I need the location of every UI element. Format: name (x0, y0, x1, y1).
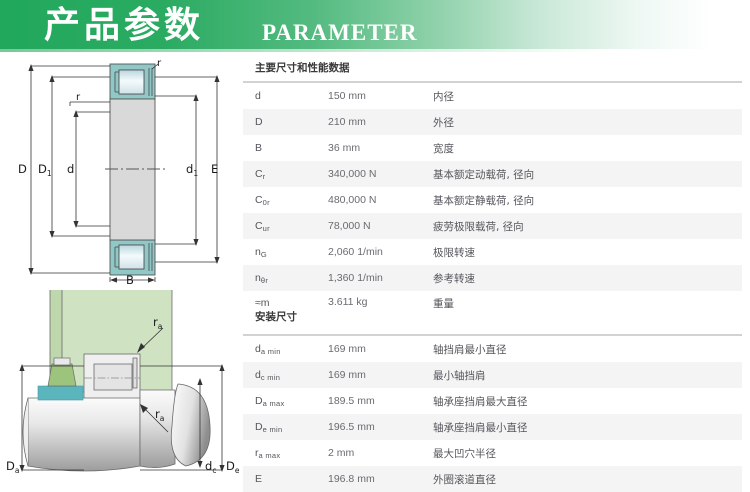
spec-symbol: nG (243, 246, 328, 258)
spec-value: 150 mm (328, 90, 433, 102)
spec-description: 极限转速 (433, 245, 742, 260)
spec-row: D210 mm外径 (243, 109, 742, 135)
spec-description: 外圈滚道直径 (433, 472, 742, 487)
bearing-mounting-drawing: Da dc De ra ra (0, 288, 243, 489)
page-title-cn: 产品参数 (44, 3, 204, 49)
spec-value: 36 mm (328, 142, 433, 154)
spec-symbol: D (243, 116, 328, 128)
spec-value: 340,000 N (328, 168, 433, 180)
dim-label-r-mid: r (76, 92, 81, 103)
dim-label-D1: D1 (38, 162, 52, 178)
spec-symbol: nθr (243, 272, 328, 284)
spec-row: C0r480,000 N基本额定静载荷, 径向 (243, 187, 742, 213)
spec-value: 189.5 mm (328, 395, 433, 407)
spec-description: 疲劳极限载荷, 径向 (433, 219, 742, 234)
dim-label-d1: d1 (186, 162, 198, 178)
spec-row: nG2,060 1/min极限转速 (243, 239, 742, 265)
spec-symbol: E (243, 473, 328, 485)
spec-symbol: d (243, 90, 328, 102)
spec-value: 2,060 1/min (328, 246, 433, 258)
spec-description: 参考转速 (433, 271, 742, 286)
spec-value: 1,360 1/min (328, 272, 433, 284)
dim-label-dc: dc (205, 459, 216, 475)
page-header-banner: 产品参数 PARAMETER (0, 0, 750, 52)
dim-label-r-top: r (157, 58, 162, 69)
spec-value: 480,000 N (328, 194, 433, 206)
spec-row: ra max2 mm最大凹穴半径 (243, 440, 742, 466)
spec-symbol: Cur (243, 220, 328, 232)
table-subsection-title: 安装尺寸 (255, 310, 328, 324)
specification-table: 主要尺寸和性能数据 d150 mm内径D210 mm外径B36 mm宽度Cr34… (243, 54, 742, 489)
spec-description: 重量 (433, 296, 742, 311)
dim-label-E: E (211, 162, 218, 176)
bearing-cross-section-drawing: D D1 d d1 E B r r (0, 54, 243, 284)
spec-symbol: De min (243, 421, 328, 433)
spec-value: 3.611 kg (328, 296, 433, 308)
spec-row: Da max189.5 mm轴承座挡肩最大直径 (243, 388, 742, 414)
spec-symbol: Cr (243, 168, 328, 180)
spec-row: ≈m安装尺寸3.611 kg重量 (243, 291, 742, 334)
spec-row: d150 mm内径 (243, 83, 742, 109)
mounting-spec-rows: da min169 mm轴挡肩最小直径dc min169 mm最小轴挡肩Da m… (243, 336, 742, 492)
main-spec-rows: d150 mm内径D210 mm外径B36 mm宽度Cr340,000 N基本额… (243, 83, 742, 334)
spec-row: E196.8 mm外圈滚道直径 (243, 466, 742, 492)
spec-description: 最小轴挡肩 (433, 368, 742, 383)
spec-row: Cr340,000 N基本额定动载荷, 径向 (243, 161, 742, 187)
dim-label-De: De (226, 459, 240, 475)
spec-value: 196.5 mm (328, 421, 433, 433)
dim-label-Da: Da (6, 459, 19, 475)
spec-value: 169 mm (328, 343, 433, 355)
spec-symbol: B (243, 142, 328, 154)
spec-description: 轴挡肩最小直径 (433, 342, 742, 357)
spec-symbol: ra max (243, 447, 328, 459)
spec-symbol: ≈m安装尺寸 (243, 296, 328, 324)
spec-row: Cur78,000 N疲劳极限载荷, 径向 (243, 213, 742, 239)
spec-description: 外径 (433, 115, 742, 130)
page-title-en: PARAMETER (262, 19, 418, 47)
spec-description: 基本额定静载荷, 径向 (433, 193, 742, 208)
spec-value: 78,000 N (328, 220, 433, 232)
spec-symbol: Da max (243, 395, 328, 407)
spec-value: 196.8 mm (328, 473, 433, 485)
spec-description: 内径 (433, 89, 742, 104)
spec-row: De min196.5 mm轴承座挡肩最小直径 (243, 414, 742, 440)
spec-row: da min169 mm轴挡肩最小直径 (243, 336, 742, 362)
spec-value: 210 mm (328, 116, 433, 128)
spec-value: 2 mm (328, 447, 433, 459)
banner-underline (0, 49, 750, 52)
spec-symbol: dc min (243, 369, 328, 381)
dim-label-B: B (126, 273, 134, 284)
spec-row: B36 mm宽度 (243, 135, 742, 161)
spec-value: 169 mm (328, 369, 433, 381)
spec-symbol: C0r (243, 194, 328, 206)
spec-description: 轴承座挡肩最小直径 (433, 420, 742, 435)
dim-label-d: d (67, 162, 74, 176)
spec-row: dc min169 mm最小轴挡肩 (243, 362, 742, 388)
table-section-title: 主要尺寸和性能数据 (243, 54, 742, 81)
spec-row: nθr1,360 1/min参考转速 (243, 265, 742, 291)
spec-description: 宽度 (433, 141, 742, 156)
spec-description: 基本额定动载荷, 径向 (433, 167, 742, 182)
spec-description: 轴承座挡肩最大直径 (433, 394, 742, 409)
spec-description: 最大凹穴半径 (433, 446, 742, 461)
dim-label-D: D (18, 162, 27, 176)
spec-symbol: da min (243, 343, 328, 355)
